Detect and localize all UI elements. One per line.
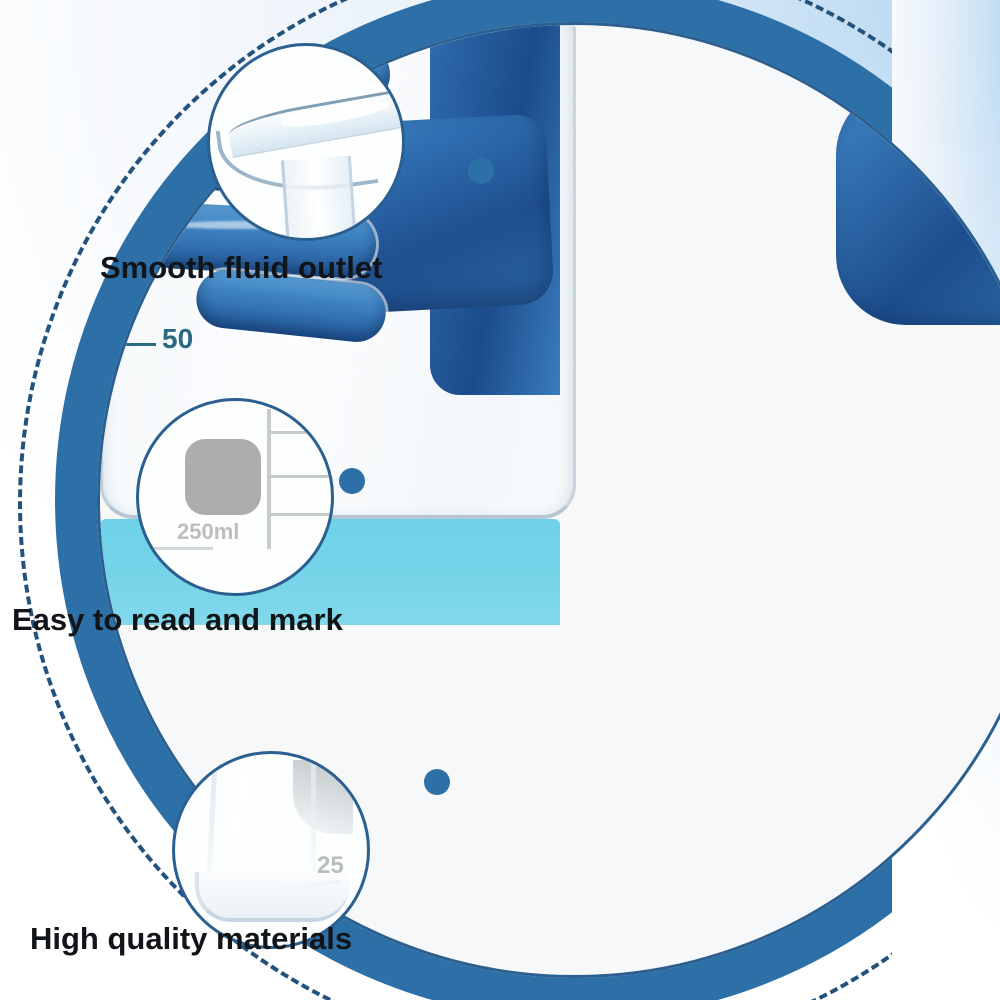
infographic-canvas: 250ml 150 100 50 <box>0 0 1000 1000</box>
callout-caption-easy-to-read: Easy to read and mark <box>12 602 343 638</box>
callout-caption-high-quality-materials: High quality materials <box>30 921 352 957</box>
scale-spine <box>100 25 103 445</box>
connector-dot-bottom <box>424 769 450 795</box>
scale-label-50: 50 <box>162 325 193 353</box>
glass-wall-right <box>311 758 316 876</box>
beaker-neck-detail <box>281 156 357 241</box>
graduation-rung <box>267 431 334 434</box>
callout-circle-high-quality-materials: 25 <box>172 751 370 949</box>
scale-tick-major <box>100 343 156 346</box>
glass-edge-line <box>145 547 213 550</box>
graduation-spine-detail <box>267 409 271 549</box>
scale-tick-major <box>100 27 156 30</box>
callout-circle-easy-to-read: 250ml <box>136 398 334 596</box>
connector-dot-middle <box>339 468 365 494</box>
glass-shadow-detail <box>293 760 353 834</box>
marking-spot-detail <box>185 439 261 515</box>
callout-caption-smooth-fluid-outlet: Smooth fluid outlet <box>100 250 382 286</box>
glass-highlight <box>229 816 241 838</box>
graduation-rung <box>267 513 334 516</box>
marking-spot-capacity-text: 250ml <box>177 519 239 545</box>
graduation-rung <box>267 475 334 478</box>
glass-highlight <box>237 776 251 802</box>
connector-dot-top <box>468 158 494 184</box>
scale-tick-minor <box>100 65 136 68</box>
callout-circle-smooth-fluid-outlet <box>207 43 405 241</box>
partial-graduation-text: 25 <box>317 852 344 880</box>
